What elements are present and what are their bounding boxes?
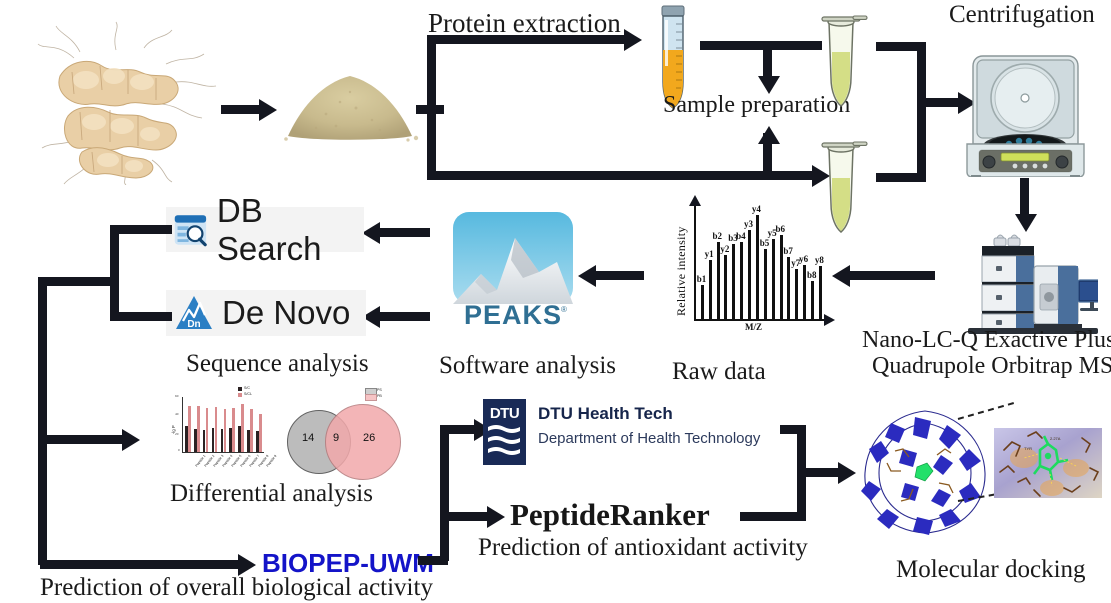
de-novo-icon: Dn	[174, 293, 214, 333]
spectrum-peak-label: y2	[720, 244, 729, 254]
differential-bars-group	[184, 397, 264, 452]
spectrum-peak-label: y6	[799, 254, 808, 264]
arrow-to-biopep-head	[238, 554, 256, 576]
arrow-to-biopep-shaft	[40, 560, 240, 569]
differential-bar	[188, 406, 191, 452]
denovo-out-shaft	[110, 312, 172, 321]
bars-ytick-40: 40	[175, 412, 178, 416]
arrow-to-differential-head	[122, 429, 140, 451]
spectrum-peak-label: b2	[713, 231, 723, 241]
label-raw-data: Raw data	[672, 358, 766, 386]
bars-legend-swatch-0	[238, 387, 242, 391]
main-left-trunk	[38, 277, 47, 565]
spectrum-peaks-group: b1y1b2y2b3b4y3y4b5y5b6b7y7y6b8y8	[698, 206, 824, 319]
arrow-to-docking-head	[838, 462, 856, 484]
bars-ytick-20: 20	[175, 432, 178, 436]
bars-ytick-60: 60	[175, 394, 178, 398]
arrow-peaks-to-dbsearch-shaft	[380, 228, 430, 237]
spectrum-y-axis-head	[689, 195, 701, 206]
differential-bar	[259, 414, 262, 453]
bars-legend: S/C S/CL	[238, 386, 272, 398]
bars-ytick-0: 0	[178, 448, 180, 452]
docking-closeup-icon: 2.27A TYR	[994, 428, 1102, 498]
spectrum-ylabel: Relative intensity	[674, 226, 689, 316]
db-search-label: DB Search	[217, 192, 364, 268]
spectrum-peak	[787, 257, 790, 319]
de-novo-box[interactable]: Dn De Novo	[166, 290, 366, 336]
eppendorf-tube-icon-top	[813, 12, 869, 110]
arrow-to-differential-shaft	[40, 435, 124, 444]
spectrum-peak-label: y4	[752, 204, 761, 214]
spectrum-peak-label: b6	[776, 224, 786, 234]
differential-bar	[241, 404, 244, 452]
differential-category-labels: Peptide 1Peptide 2Peptide 3Peptide 4Pept…	[184, 454, 264, 482]
peptideranker-label[interactable]: PeptideRanker	[510, 497, 710, 533]
spectrum-peak	[795, 269, 798, 319]
arrow-to-docking-shaft	[797, 468, 841, 477]
bars-x-axis	[182, 452, 264, 453]
bars-legend-label-1: S/CL	[244, 392, 252, 396]
spectrum-peak	[780, 235, 783, 319]
venn-count-left: 14	[302, 432, 314, 444]
arrow-rhizome-to-powder-head	[259, 99, 277, 121]
svg-text:DTU: DTU	[490, 405, 519, 422]
spectrum-peak-label: b4	[736, 231, 746, 241]
differential-analysis-venn: 14 9 26 PS PB	[283, 398, 403, 486]
label-differential-analysis: Differential analysis	[170, 480, 373, 508]
spectrum-y-axis	[694, 206, 696, 320]
workflow-diagram: Protein extraction Sample preparation	[0, 0, 1111, 603]
svg-text:2.27A: 2.27A	[1050, 436, 1061, 441]
spectrum-peak	[740, 242, 743, 319]
spectrum-x-axis-head	[824, 314, 835, 326]
de-novo-label: De Novo	[222, 294, 350, 332]
spectrum-peak	[756, 215, 759, 319]
dtu-logo-svg: DTU	[483, 399, 526, 465]
label-sequence-analysis: Sequence analysis	[186, 350, 369, 378]
spectrum-peak	[772, 239, 775, 319]
label-instrument-line1: Nano-LC-Q Exactive Plus	[862, 327, 1111, 354]
spectrum-peak	[811, 281, 814, 319]
venn-legend-label-0: PS	[377, 388, 382, 392]
dtu-title: DTU Health Tech	[538, 404, 673, 424]
label-protein-extraction: Protein extraction	[428, 8, 621, 39]
differential-bar	[232, 408, 235, 452]
centrifuge-icon	[963, 32, 1088, 177]
centrifuge-to-lcms-shaft	[1020, 178, 1029, 216]
spectrum-peak	[819, 266, 822, 319]
bars-y-axis	[182, 397, 183, 452]
sequence-bus-to-trunk	[40, 277, 116, 286]
bars-legend-label-0: S/C	[244, 386, 250, 390]
spectrum-peak	[748, 230, 751, 319]
spectrum-peak	[764, 249, 767, 319]
svg-text:®: ®	[561, 305, 567, 314]
arrow-peaks-to-denovo-shaft	[380, 312, 430, 321]
label-prediction-overall: Prediction of overall biological activit…	[40, 574, 433, 602]
venn-legend-swatch-1	[365, 394, 377, 401]
venn-legend: PS PB	[365, 388, 401, 400]
venn-count-shared: 9	[333, 432, 339, 444]
bars-legend-swatch-1	[238, 393, 242, 397]
spectrum-peak-label: y1	[705, 249, 714, 259]
venn-legend-label-1: PB	[377, 394, 382, 398]
spectrum-peak	[709, 260, 712, 319]
spectrum-xlabel: M/Z	[745, 322, 762, 332]
biopep-bus-vertical	[440, 425, 449, 561]
powder-trunk-vertical	[427, 35, 436, 180]
falcon-to-junction-shaft	[700, 41, 822, 50]
differential-analysis-bars: -lg P 60 40 20 0 Peptide 1Peptide 2Pepti…	[160, 392, 275, 484]
spectrum-peak-label: y3	[744, 219, 753, 229]
db-search-icon	[172, 210, 209, 250]
sequence-bus-vertical	[110, 225, 119, 321]
dtu-logo-icon[interactable]: DTU	[483, 399, 526, 465]
spectrum-peak-label: b1	[697, 274, 707, 284]
arrow-to-peptideranker-head	[487, 506, 505, 528]
differential-bar	[206, 408, 209, 452]
svg-text:PEAKS: PEAKS	[464, 300, 562, 330]
powder-image	[280, 62, 420, 142]
lcms-instrument-icon	[938, 228, 1098, 338]
label-prediction-antioxidant: Prediction of antioxidant activity	[478, 534, 808, 562]
spectrum-peak	[701, 285, 704, 319]
junction-down-vertical	[763, 41, 772, 77]
dtu-subtitle: Department of Health Technology	[538, 430, 760, 447]
arrow-lcms-to-rawdata-head	[832, 265, 850, 287]
spectrum-peak	[724, 255, 727, 319]
differential-bar	[215, 407, 218, 452]
spectrum-peak-label: b8	[807, 270, 817, 280]
spectrum-peak	[732, 244, 735, 319]
label-centrifugation: Centrifugation	[949, 1, 1095, 29]
label-instrument-line2: Quadrupole Orbitrap MS	[872, 353, 1111, 380]
peaks-logo-icon: PEAKS ®	[453, 212, 573, 330]
spectrum-peak-label: b5	[760, 238, 770, 248]
lower-return-shaft	[427, 171, 817, 180]
spectrum-peak-label: y8	[815, 255, 824, 265]
arrow-rawdata-to-peaks-shaft	[596, 271, 644, 280]
raw-ms-spectrum-chart: Relative intensity M/Z b1y1b2y2b3b4y3y4b…	[660, 200, 832, 340]
tube-merge-vertical	[917, 42, 926, 182]
rhizome-image	[16, 20, 231, 185]
arrow-protein-extraction-head	[624, 29, 642, 51]
arrow-lcms-to-rawdata-shaft	[850, 271, 935, 280]
dbsearch-out-shaft	[110, 225, 172, 234]
protein-ribbon-icon	[855, 405, 995, 537]
differential-bar	[197, 406, 200, 452]
junction-up-head	[758, 126, 780, 144]
svg-text:TYR: TYR	[1024, 446, 1032, 451]
arrow-peaks-to-dbsearch-head	[362, 222, 380, 244]
spectrum-x-axis	[694, 319, 826, 321]
differential-bar	[224, 409, 227, 452]
spectrum-peak	[717, 242, 720, 319]
arrow-to-centrifuge-shaft	[917, 98, 961, 107]
differential-bar	[250, 409, 253, 452]
svg-text:Dn: Dn	[187, 319, 200, 330]
venn-count-right: 26	[363, 432, 375, 444]
arrow-rhizome-to-powder-shaft	[221, 105, 259, 114]
db-search-box[interactable]: DB Search	[166, 207, 364, 252]
arrow-rawdata-to-peaks-head	[578, 265, 596, 287]
spectrum-peak	[803, 265, 806, 319]
arrow-to-peptideranker-shaft	[440, 512, 490, 521]
label-molecular-docking: Molecular docking	[896, 556, 1086, 584]
spectrum-peak-label: b7	[783, 246, 793, 256]
label-software-analysis: Software analysis	[439, 352, 616, 380]
